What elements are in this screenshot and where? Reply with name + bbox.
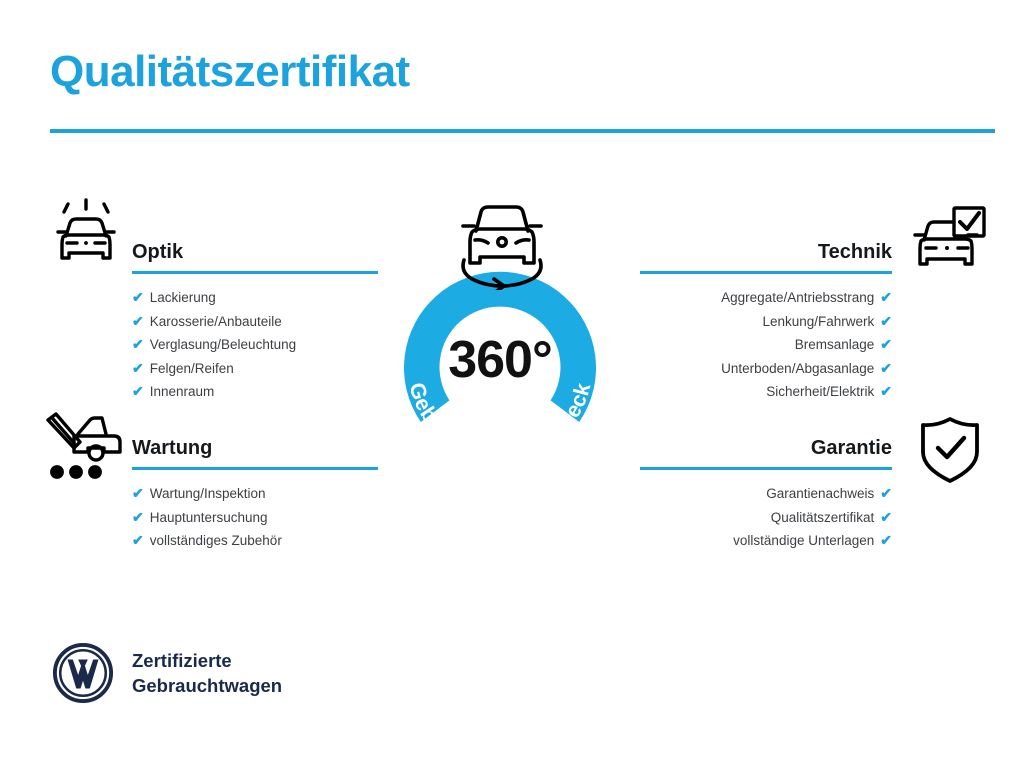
check-icon: ✔ [132, 310, 144, 333]
list-item: ✔Felgen/Reifen [132, 357, 378, 381]
list-item-label: Hauptuntersuchung [150, 507, 268, 530]
checklist-optik: ✔Lackierung ✔Karosserie/Anbauteile ✔Verg… [132, 286, 378, 404]
section-title-wartung: Wartung [132, 437, 212, 460]
check-icon: ✔ [132, 380, 144, 403]
list-item: Unterboden/Abgasanlage✔ [640, 357, 892, 381]
badge-value: 360° [380, 330, 620, 390]
list-item-label: Wartung/Inspektion [150, 483, 266, 506]
list-item: Lenkung/Fahrwerk✔ [640, 310, 892, 334]
list-item-label: Aggregate/Antriebsstrang [721, 287, 874, 310]
section-header-wartung: Wartung [132, 424, 378, 470]
section-divider-garantie [640, 467, 892, 470]
vw-logo [52, 642, 114, 704]
section-header-garantie: Garantie [640, 424, 892, 470]
list-item: ✔Innenraum [132, 380, 378, 404]
footer-line-2: Gebrauchtwagen [132, 673, 282, 698]
section-title-garantie: Garantie [811, 437, 892, 460]
list-item-label: Karosserie/Anbauteile [150, 311, 282, 334]
list-item: vollständige Unterlagen✔ [640, 529, 892, 553]
list-item: ✔Hauptuntersuchung [132, 506, 378, 530]
check-icon: ✔ [132, 529, 144, 552]
section-title-technik: Technik [818, 241, 892, 264]
list-item: ✔Lackierung [132, 286, 378, 310]
list-item: Garantienachweis✔ [640, 482, 892, 506]
check-icon: ✔ [132, 482, 144, 505]
section-divider-wartung [132, 467, 378, 470]
list-item: Aggregate/Antriebsstrang✔ [640, 286, 892, 310]
list-item-label: Verglasung/Beleuchtung [150, 334, 296, 357]
check-icon: ✔ [880, 380, 892, 403]
check-icon: ✔ [132, 506, 144, 529]
list-item-label: Garantienachweis [766, 483, 874, 506]
check-icon: ✔ [132, 286, 144, 309]
shield-check-icon [914, 414, 986, 486]
list-item: ✔vollständiges Zubehör [132, 529, 378, 553]
list-item-label: Lenkung/Fahrwerk [762, 311, 874, 334]
check-icon: ✔ [880, 333, 892, 356]
footer-brand-lockup: Zertifizierte Gebrauchtwagen [52, 642, 282, 704]
footer-brand-text: Zertifizierte Gebrauchtwagen [132, 648, 282, 698]
section-garantie: Garantie Garantienachweis✔ Qualitätszert… [640, 424, 892, 553]
checklist-garantie: Garantienachweis✔ Qualitätszertifikat✔ v… [640, 482, 892, 553]
check-icon: ✔ [880, 357, 892, 380]
car-rotate-icon [450, 198, 554, 290]
section-header-optik: Optik [132, 228, 378, 274]
section-title-optik: Optik [132, 241, 183, 264]
check-icon: ✔ [880, 506, 892, 529]
check-icon: ✔ [880, 310, 892, 333]
checklist-technik: Aggregate/Antriebsstrang✔ Lenkung/Fahrwe… [640, 286, 892, 404]
section-optik: Optik ✔Lackierung ✔Karosserie/Anbauteile… [132, 228, 378, 404]
section-divider-technik [640, 271, 892, 274]
list-item: ✔Karosserie/Anbauteile [132, 310, 378, 334]
header-divider [50, 129, 995, 133]
section-header-technik: Technik [640, 228, 892, 274]
list-item-label: Sicherheit/Elektrik [766, 381, 874, 404]
list-item: Sicherheit/Elektrik✔ [640, 380, 892, 404]
list-item-label: Felgen/Reifen [150, 358, 234, 381]
check-icon: ✔ [132, 357, 144, 380]
check-icon: ✔ [880, 529, 892, 552]
section-technik: Technik Aggregate/Antriebsstrang✔ Lenkun… [640, 228, 892, 404]
list-item-label: Unterboden/Abgasanlage [721, 358, 874, 381]
list-item: ✔Verglasung/Beleuchtung [132, 333, 378, 357]
car-shine-icon [46, 196, 126, 276]
list-item: ✔Wartung/Inspektion [132, 482, 378, 506]
list-item: Qualitätszertifikat✔ [640, 506, 892, 530]
list-item-label: vollständige Unterlagen [733, 530, 874, 553]
car-checkbox-icon [906, 204, 990, 276]
certificate-page: Qualitätszertifikat [0, 0, 1024, 768]
check-icon: ✔ [880, 286, 892, 309]
section-wartung: Wartung ✔Wartung/Inspektion ✔Hauptunters… [132, 424, 378, 553]
section-divider-optik [132, 271, 378, 274]
list-item-label: vollständiges Zubehör [150, 530, 282, 553]
checklist-wartung: ✔Wartung/Inspektion ✔Hauptuntersuchung ✔… [132, 482, 378, 553]
page-title: Qualitätszertifikat [50, 48, 410, 96]
car-tool-icon [44, 412, 126, 484]
list-item-label: Bremsanlage [795, 334, 875, 357]
list-item-label: Qualitätszertifikat [771, 507, 875, 530]
check-icon: ✔ [132, 333, 144, 356]
footer-line-1: Zertifizierte [132, 648, 282, 673]
list-item-label: Lackierung [150, 287, 216, 310]
check-icon: ✔ [880, 482, 892, 505]
list-item: Bremsanlage✔ [640, 333, 892, 357]
list-item-label: Innenraum [150, 381, 215, 404]
